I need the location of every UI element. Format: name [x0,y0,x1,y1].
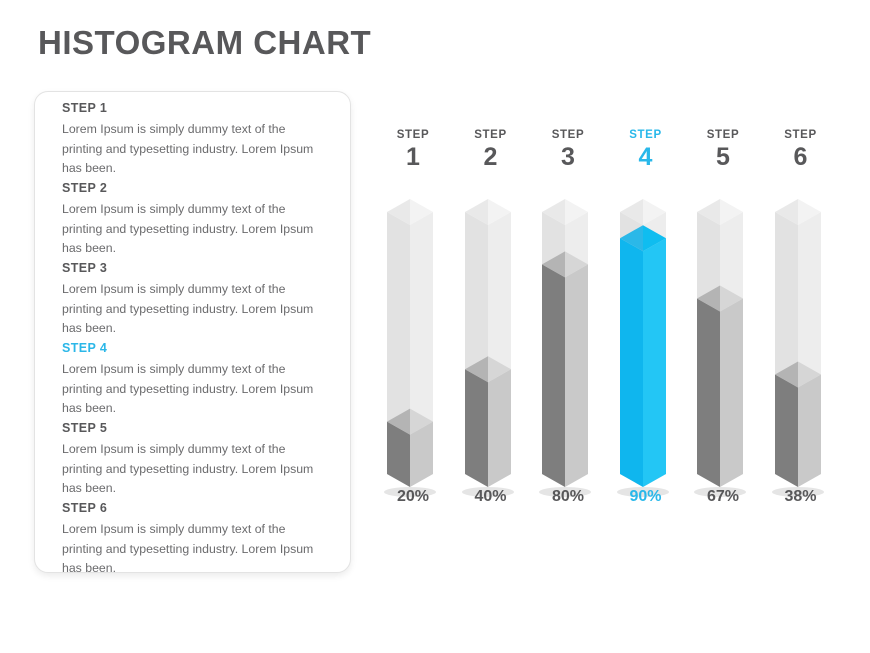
column-header-number: 1 [375,145,451,170]
bar-fill-front-face-left [620,238,643,487]
column-header: STEP2 [453,130,529,170]
step-item-body: Lorem Ipsum is simply dummy text of the … [62,440,320,499]
column-header-number: 3 [530,145,606,170]
chart-column-4[interactable]: STEP490% [608,130,684,170]
column-header-number: 2 [453,145,529,170]
bar-fill-front-face-right [643,238,666,487]
chart-column-2[interactable]: STEP240% [453,130,529,170]
bar-3d[interactable] [453,202,529,492]
step-item-title: STEP 4 [62,341,320,355]
bar-fill-front-face-right [488,369,511,487]
bar-fill-front-face-left [542,264,565,487]
step-item-3[interactable]: STEP 3Lorem Ipsum is simply dummy text o… [62,261,320,339]
page-title: HISTOGRAM CHART [38,24,371,62]
step-item-title: STEP 6 [62,501,320,515]
bar-fill-front-face-right [798,374,821,487]
bar-3d[interactable] [763,202,839,492]
column-header-label: STEP [530,130,606,142]
column-header: STEP4 [608,130,684,170]
column-header-label: STEP [763,130,839,142]
bar-fill-front-face-left [697,298,720,487]
step-item-body: Lorem Ipsum is simply dummy text of the … [62,360,320,419]
column-value-label: 80% [530,488,606,506]
bar-3d[interactable] [375,202,451,492]
step-item-4[interactable]: STEP 4Lorem Ipsum is simply dummy text o… [62,341,320,419]
step-item-body: Lorem Ipsum is simply dummy text of the … [62,120,320,179]
chart-column-3[interactable]: STEP380% [530,130,606,170]
bar-3d[interactable] [685,202,761,492]
step-item-6[interactable]: STEP 6Lorem Ipsum is simply dummy text o… [62,501,320,579]
column-header: STEP5 [685,130,761,170]
column-header-label: STEP [375,130,451,142]
column-value-label: 20% [375,488,451,506]
column-header-label: STEP [608,130,684,142]
bar-fill-front-face-right [565,264,588,487]
chart-column-1[interactable]: STEP120% [375,130,451,170]
step-item-1[interactable]: STEP 1Lorem Ipsum is simply dummy text o… [62,101,320,179]
column-header-label: STEP [685,130,761,142]
chart-column-6[interactable]: STEP638% [763,130,839,170]
steps-card: STEP 1Lorem Ipsum is simply dummy text o… [34,91,351,573]
column-header-number: 4 [608,145,684,170]
step-item-5[interactable]: STEP 5Lorem Ipsum is simply dummy text o… [62,421,320,499]
step-item-body: Lorem Ipsum is simply dummy text of the … [62,520,320,579]
column-value-label: 40% [453,488,529,506]
step-item-body: Lorem Ipsum is simply dummy text of the … [62,200,320,259]
histogram-chart: STEP120%STEP240%STEP380%STEP490%STEP567%… [370,130,850,530]
bar-fill-front-face-left [465,369,488,487]
step-item-2[interactable]: STEP 2Lorem Ipsum is simply dummy text o… [62,181,320,259]
column-header-number: 6 [763,145,839,170]
bar-3d[interactable] [530,202,606,492]
column-header: STEP6 [763,130,839,170]
step-item-title: STEP 3 [62,261,320,275]
column-header-number: 5 [685,145,761,170]
column-value-label: 38% [763,488,839,506]
bar-fill-front-face-right [720,298,743,487]
step-item-body: Lorem Ipsum is simply dummy text of the … [62,280,320,339]
column-header: STEP1 [375,130,451,170]
column-header: STEP3 [530,130,606,170]
step-item-title: STEP 5 [62,421,320,435]
step-item-title: STEP 2 [62,181,320,195]
step-item-title: STEP 1 [62,101,320,115]
chart-column-5[interactable]: STEP567% [685,130,761,170]
column-value-label: 90% [608,488,684,506]
column-value-label: 67% [685,488,761,506]
bar-fill-front-face-left [775,374,798,487]
bar-3d[interactable] [608,202,684,492]
column-header-label: STEP [453,130,529,142]
